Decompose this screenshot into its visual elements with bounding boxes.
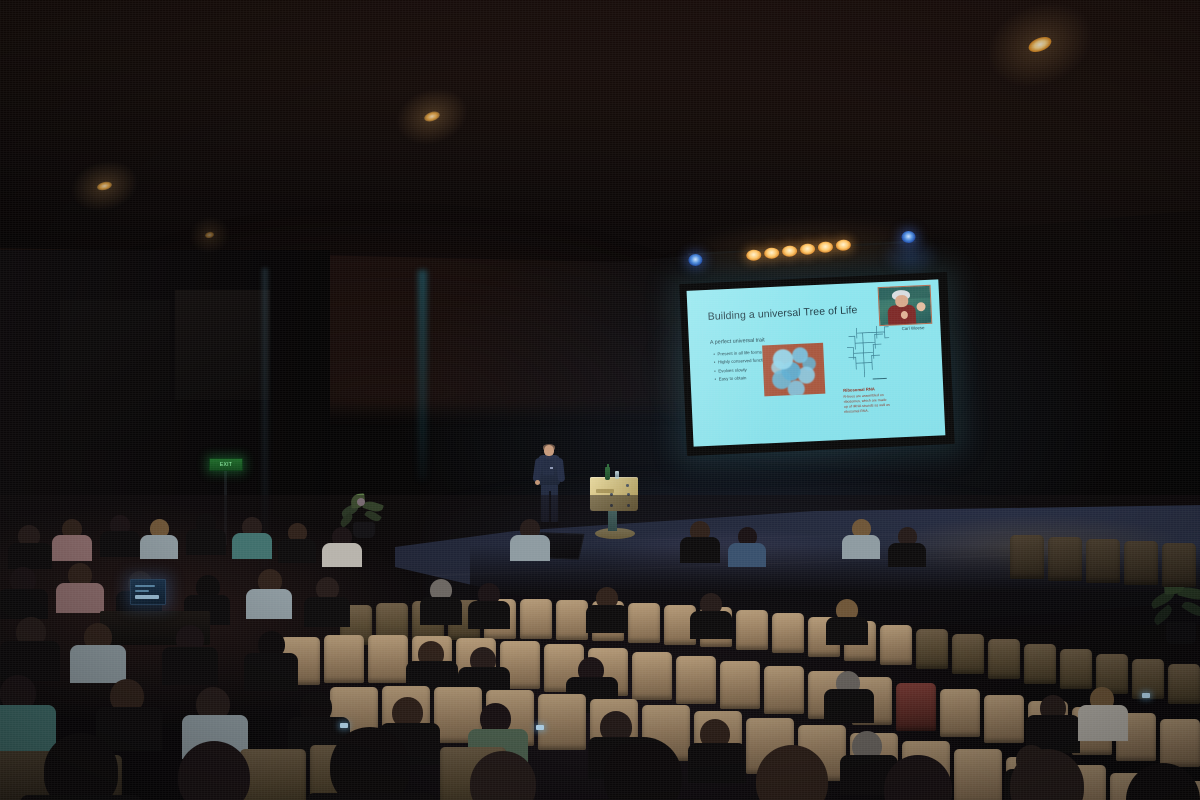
drinking-glass	[615, 471, 619, 479]
phylogenetic-tree-figure	[840, 322, 894, 380]
projection-screen[interactable]: Building a universal Tree of Life A perf…	[679, 272, 955, 456]
audience-area	[0, 495, 1200, 800]
slide-bullet: Easy to obtain	[714, 373, 775, 384]
figure-heading: Ribosomal RNA	[843, 386, 875, 392]
slide-surface: Building a universal Tree of Life A perf…	[687, 279, 946, 446]
exit-sign: EXIT	[209, 458, 243, 471]
phone-screen[interactable]	[536, 725, 544, 730]
tree-scale-bar	[873, 378, 887, 380]
figure-body-text: R-trees are assembled on ribosomes, whic…	[843, 393, 890, 415]
laptop-screen[interactable]	[130, 579, 166, 605]
slide-subtitle: A perfect universal trait	[710, 337, 765, 345]
portrait-caption: Carl Woese	[902, 325, 925, 331]
wall-panel-upper	[175, 290, 270, 400]
ribosome-structure-image	[762, 343, 825, 397]
phone-screen[interactable]	[1142, 693, 1150, 698]
slide-title: Building a universal Tree of Life	[707, 304, 857, 323]
slide-bullet: Present in all life forms	[713, 348, 774, 359]
wall-panel-lower	[60, 300, 170, 450]
stage-left-teal-strip	[418, 270, 427, 480]
water-bottle	[605, 467, 610, 480]
carl-woese-portrait	[878, 285, 933, 326]
auditorium-scene: Building a universal Tree of Life A perf…	[0, 0, 1200, 800]
slide-bullet: Highly conserved functionally	[714, 356, 775, 367]
slide-bullet: Evolves slowly	[714, 365, 775, 376]
slide-bullet-list: Present in all life forms Highly conserv…	[713, 348, 775, 384]
truss-blue-haze	[880, 236, 940, 276]
phone-screen[interactable]	[340, 723, 348, 728]
exit-sign-label: EXIT	[210, 459, 242, 470]
